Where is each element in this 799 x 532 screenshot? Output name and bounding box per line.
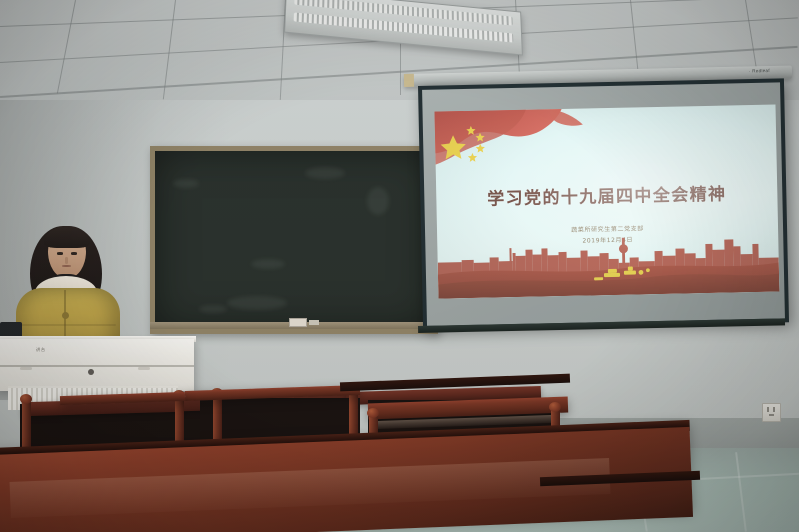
screen-case-endcap xyxy=(404,74,414,87)
chalkboard xyxy=(150,146,438,334)
classroom-photo: · Redleaf xyxy=(0,0,799,532)
slide-title: 学习党的十九届四中全会精神 xyxy=(436,179,777,211)
chinese-flag-graphic xyxy=(435,106,592,177)
projection-surface: 学习党的十九届四中全会精神 蔬菜所研究生第二党支部 2019年12月4日 xyxy=(422,82,785,325)
presenter xyxy=(8,220,130,350)
lectern-knob[interactable] xyxy=(88,369,94,375)
bench-post-cap-5 xyxy=(367,408,379,418)
presenter-coat-button xyxy=(62,312,69,319)
lectern: 讲台 xyxy=(0,339,194,391)
chalkboard-eraser xyxy=(289,318,307,327)
projector-screen: 学习党的十九届四中全会精神 蔬菜所研究生第二党支部 2019年12月4日 xyxy=(418,78,789,330)
chalk-piece xyxy=(309,320,319,325)
presentation-slide: 学习党的十九届四中全会精神 蔬菜所研究生第二党支部 2019年12月4日 xyxy=(435,105,780,299)
bench-post-cap-6 xyxy=(549,402,561,412)
city-skyline-graphic xyxy=(437,229,779,298)
presenter-mouth xyxy=(62,265,71,267)
screen-brand-label: · Redleaf xyxy=(749,68,770,73)
lectern-label: 讲台 xyxy=(36,347,46,353)
presenter-hair-front xyxy=(44,226,90,248)
bench-post-cap-1 xyxy=(20,394,32,404)
power-outlet-icon xyxy=(762,403,781,422)
